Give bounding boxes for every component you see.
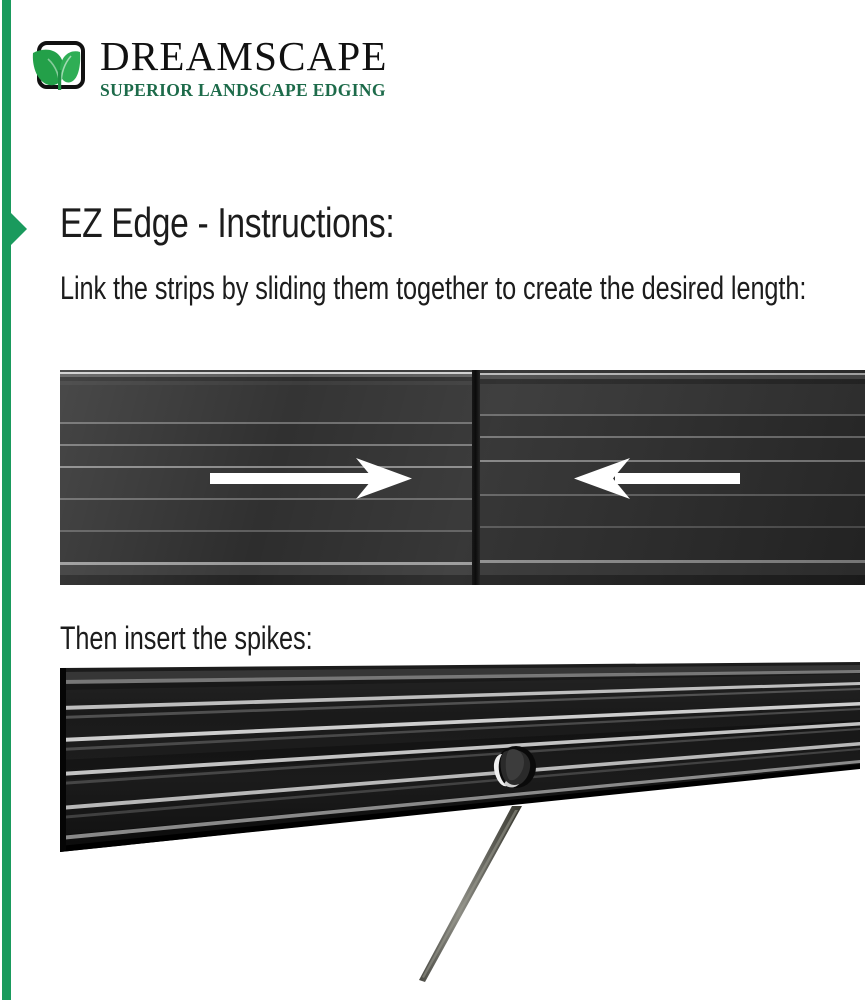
step-one-text: Link the strips by sliding them together…: [60, 266, 850, 310]
figure-linking-strips: [60, 370, 865, 585]
figure-spike-insert: [60, 660, 865, 1000]
leaf-logo-icon: [30, 38, 88, 98]
brand-wordmark: DREAMSCAPE SUPERIOR LANDSCAPE EDGING: [100, 36, 430, 100]
brand-tagline: SUPERIOR LANDSCAPE EDGING: [100, 82, 430, 100]
strip-seam: [472, 370, 480, 585]
left-accent-rail: [2, 0, 11, 1000]
brand-name: DREAMSCAPE: [100, 36, 430, 77]
edging-strip-left: [60, 370, 475, 585]
step-two-text: Then insert the spikes:: [60, 616, 771, 660]
instruction-sheet-page: DREAMSCAPE SUPERIOR LANDSCAPE EDGING EZ …: [0, 0, 865, 1000]
edging-strip-right: [475, 370, 865, 585]
arrow-bullet-icon: [10, 212, 27, 246]
page-title: EZ Edge - Instructions:: [60, 200, 394, 246]
brand-logo: DREAMSCAPE SUPERIOR LANDSCAPE EDGING: [30, 36, 430, 116]
edging-strip-perspective: [60, 662, 860, 852]
metal-spike-icon: [419, 806, 522, 982]
